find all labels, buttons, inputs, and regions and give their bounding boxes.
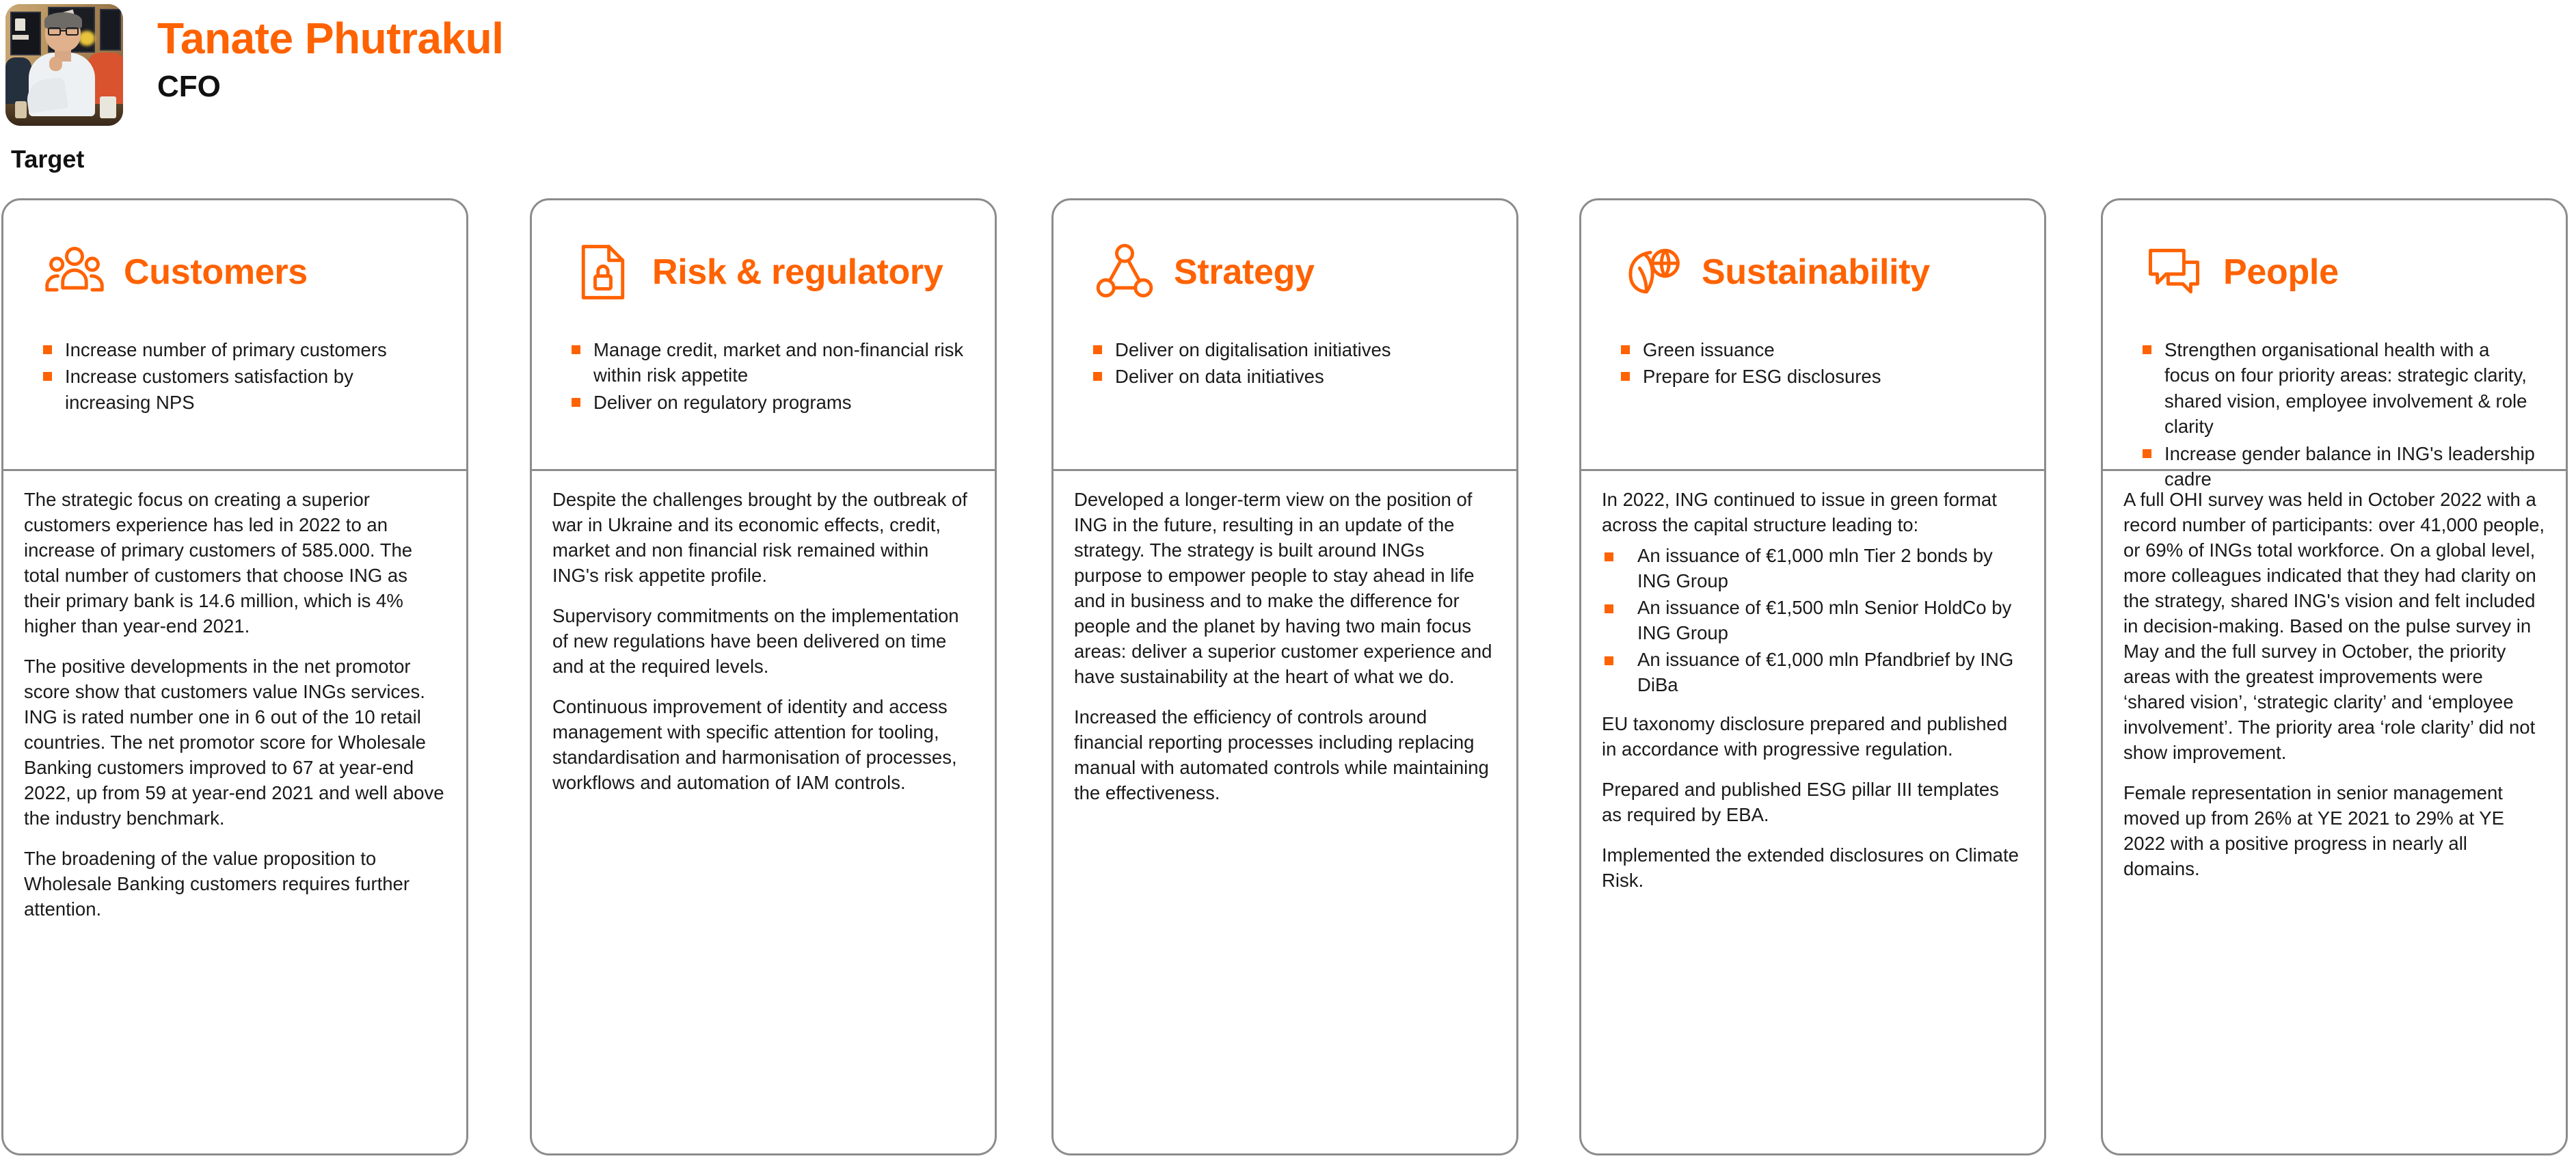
- avatar: [5, 4, 123, 126]
- speech-bubbles-icon: [2141, 239, 2207, 305]
- list-item: An issuance of €1,500 mln Senior HoldCo …: [1602, 596, 2024, 646]
- card-header: Sustainability: [1605, 232, 2021, 312]
- card-sustainability[interactable]: Sustainability Green issuance Prepare fo…: [1579, 198, 2046, 1155]
- card-bullet-list: Increase number of primary customers Inc…: [27, 337, 443, 415]
- card-title: Sustainability: [1702, 254, 1930, 290]
- body-paragraph: Implemented the extended disclosures on …: [1602, 843, 2024, 894]
- list-item: Increase customers satisfaction by incre…: [33, 364, 439, 415]
- card-body: A full OHI survey was held in October 20…: [2103, 471, 2566, 1153]
- card-risk-regulatory[interactable]: Risk & regulatory Manage credit, market …: [530, 198, 997, 1155]
- body-paragraph: In 2022, ING continued to issue in green…: [1602, 487, 2024, 538]
- card-top-section: Strategy Deliver on digitalisation initi…: [1054, 200, 1516, 469]
- body-bullet-list: An issuance of €1,000 mln Tier 2 bonds b…: [1602, 544, 2024, 698]
- card-title: Customers: [124, 254, 308, 290]
- card-title: Strategy: [1174, 254, 1315, 290]
- person-role: CFO: [157, 72, 221, 102]
- list-item: Increase number of primary customers: [33, 337, 439, 362]
- card-body: Developed a longer-term view on the posi…: [1054, 471, 1516, 1153]
- list-item: Deliver on data initiatives: [1084, 364, 1489, 389]
- card-customers[interactable]: Customers Increase number of primary cus…: [1, 198, 468, 1155]
- document-lock-icon: [570, 239, 636, 305]
- body-paragraph: Continuous improvement of identity and a…: [552, 695, 974, 796]
- list-item: Strengthen organisational health with a …: [2133, 337, 2538, 440]
- leaf-globe-icon: [1620, 239, 1685, 305]
- card-top-section: Risk & regulatory Manage credit, market …: [532, 200, 995, 469]
- card-top-section: People Strengthen organisational health …: [2103, 200, 2566, 469]
- card-bullet-list: Deliver on digitalisation initiatives De…: [1077, 337, 1493, 390]
- card-body: In 2022, ING continued to issue in green…: [1581, 471, 2044, 1153]
- card-header: People: [2126, 232, 2543, 312]
- body-paragraph: Prepared and published ESG pillar III te…: [1602, 777, 2024, 828]
- avatar-photo: [5, 4, 123, 126]
- body-paragraph: EU taxonomy disclosure prepared and publ…: [1602, 712, 2024, 762]
- person-name: Tanate Phutrakul: [157, 16, 503, 60]
- section-label-target: Target: [11, 147, 84, 172]
- list-item: Manage credit, market and non-financial …: [562, 337, 967, 388]
- list-item: Green issuance: [1611, 337, 2017, 362]
- list-item: Deliver on regulatory programs: [562, 390, 967, 415]
- target-cards-row: Customers Increase number of primary cus…: [0, 198, 2576, 1159]
- list-item: Deliver on digitalisation initiatives: [1084, 337, 1489, 362]
- body-paragraph: The strategic focus on creating a superi…: [24, 487, 446, 639]
- card-header: Risk & regulatory: [555, 232, 971, 312]
- body-paragraph: Female representation in senior manageme…: [2123, 781, 2545, 882]
- card-title: Risk & regulatory: [652, 254, 943, 290]
- card-header: Strategy: [1077, 232, 1493, 312]
- card-header: Customers: [27, 232, 443, 312]
- card-bullet-list: Green issuance Prepare for ESG disclosur…: [1605, 337, 2021, 390]
- body-paragraph: Increased the efficiency of controls aro…: [1074, 705, 1496, 806]
- card-people[interactable]: People Strengthen organisational health …: [2101, 198, 2568, 1155]
- list-item: An issuance of €1,000 mln Pfandbrief by …: [1602, 647, 2024, 698]
- body-paragraph: The broadening of the value proposition …: [24, 846, 446, 922]
- card-top-section: Sustainability Green issuance Prepare fo…: [1581, 200, 2044, 469]
- people-group-icon: [42, 239, 107, 305]
- card-title: People: [2223, 254, 2339, 290]
- card-bullet-list: Strengthen organisational health with a …: [2126, 337, 2543, 492]
- body-paragraph: Despite the challenges brought by the ou…: [552, 487, 974, 589]
- body-paragraph: The positive developments in the net pro…: [24, 654, 446, 831]
- card-body: The strategic focus on creating a superi…: [3, 471, 466, 1153]
- profile-header: Tanate Phutrakul CFO: [0, 0, 2576, 137]
- card-top-section: Customers Increase number of primary cus…: [3, 200, 466, 469]
- body-paragraph: Developed a longer-term view on the posi…: [1074, 487, 1496, 690]
- card-bullet-list: Manage credit, market and non-financial …: [555, 337, 971, 415]
- list-item: An issuance of €1,000 mln Tier 2 bonds b…: [1602, 544, 2024, 594]
- body-paragraph: Supervisory commitments on the implement…: [552, 604, 974, 680]
- network-nodes-icon: [1092, 239, 1157, 305]
- list-item: Increase gender balance in ING's leaders…: [2133, 441, 2538, 492]
- card-body: Despite the challenges brought by the ou…: [532, 471, 995, 1153]
- card-strategy[interactable]: Strategy Deliver on digitalisation initi…: [1051, 198, 1518, 1155]
- list-item: Prepare for ESG disclosures: [1611, 364, 2017, 389]
- body-paragraph: A full OHI survey was held in October 20…: [2123, 487, 2545, 766]
